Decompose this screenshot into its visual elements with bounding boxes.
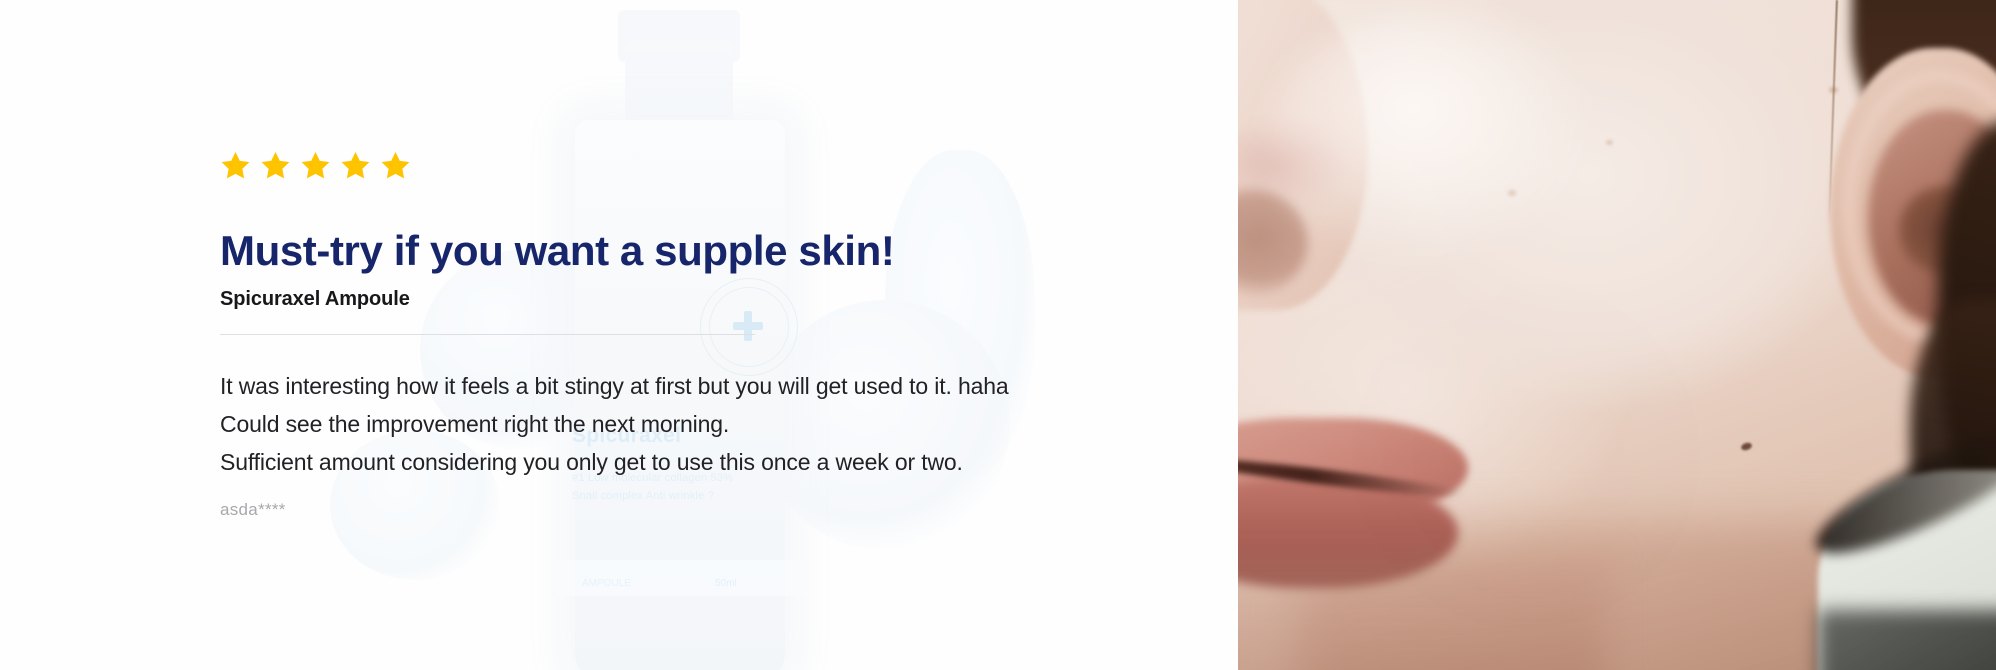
photo-grain-overlay: [1238, 0, 1996, 670]
star-icon: [380, 150, 411, 180]
review-panel: Spicuraxel #1 Low molecular collagen 53%…: [0, 0, 1238, 670]
review-body: It was interesting how it feels a bit st…: [220, 367, 1080, 481]
star-icon: [300, 150, 331, 180]
star-icon: [260, 150, 291, 180]
review-author: asda****: [220, 500, 286, 520]
star-rating: [220, 150, 411, 180]
star-icon: [220, 150, 251, 180]
product-name: Spicuraxel Ampoule: [220, 288, 410, 311]
star-icon: [340, 150, 371, 180]
review-screenshot: Spicuraxel #1 Low molecular collagen 53%…: [0, 0, 1996, 670]
review-headline: Must-try if you want a supple skin!: [220, 226, 1100, 276]
review-content: Must-try if you want a supple skin! Spic…: [220, 0, 1120, 670]
review-photo: [1238, 0, 1996, 670]
divider: [220, 334, 755, 335]
